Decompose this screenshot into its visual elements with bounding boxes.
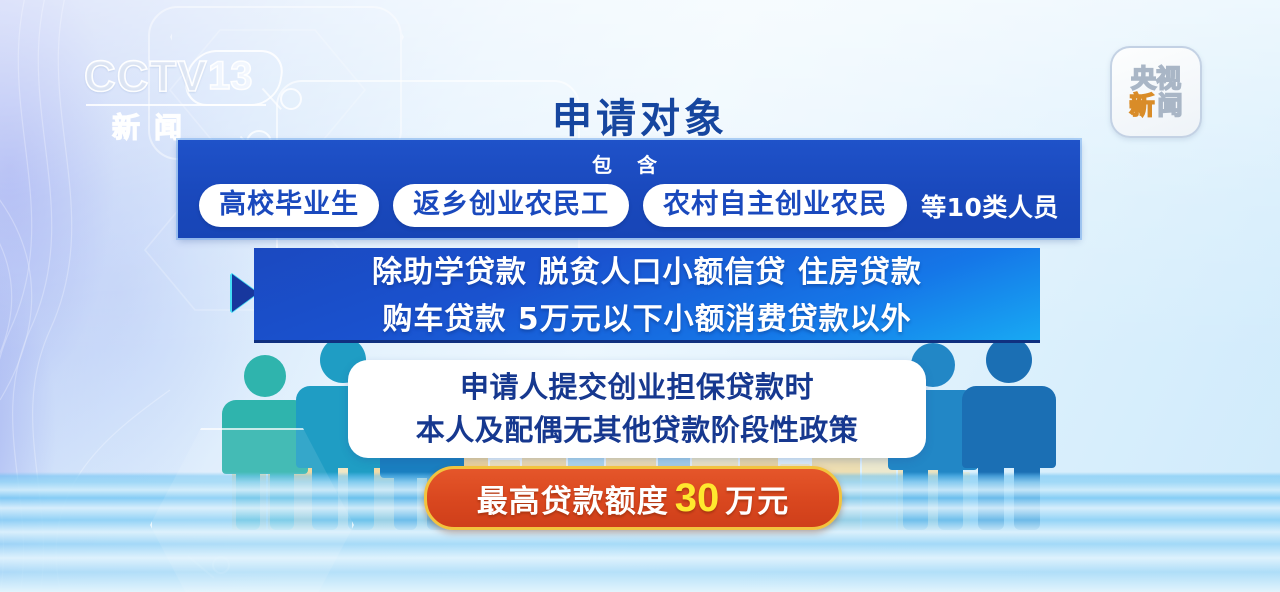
applicant-pill-3: 农村自主创业农民 [643, 184, 907, 227]
max-loan-amount: 30 [675, 476, 720, 521]
applicants-panel: 包 含 高校毕业生 返乡创业农民工 农村自主创业农民 等10类人员 [178, 140, 1080, 238]
exclusions-line-2: 购车贷款 5万元以下小额消费贷款以外 [254, 295, 1040, 342]
applicants-panel-tail: 等10类人员 [921, 188, 1059, 224]
conditions-line-2: 本人及配偶无其他贷款阶段性政策 [416, 409, 859, 452]
max-loan-label: 最高贷款额度 [477, 476, 669, 521]
exclusions-panel-wrapper: 除助学贷款 脱贫人口小额信贷 住房贷款 购车贷款 5万元以下小额消费贷款以外 [232, 248, 1040, 346]
applicants-panel-header: 包 含 [178, 149, 1080, 178]
exclusions-line-1: 除助学贷款 脱贫人口小额信贷 住房贷款 [254, 248, 1040, 295]
conditions-panel: 申请人提交创业担保贷款时 本人及配偶无其他贷款阶段性政策 [348, 360, 926, 458]
applicant-pill-2: 返乡创业农民工 [393, 184, 629, 227]
page-title: 申请对象 [0, 86, 1280, 144]
applicants-pill-row: 高校毕业生 返乡创业农民工 农村自主创业农民 等10类人员 [178, 184, 1080, 227]
max-loan-unit: 万元 [725, 476, 789, 521]
news-graphic-screen: CCTV 13 新闻 央视 新 闻 申请对象 包 含 高校毕业生 返乡创业农民工… [0, 0, 1280, 592]
conditions-line-1: 申请人提交创业担保贷款时 [460, 366, 814, 409]
applicant-pill-1: 高校毕业生 [199, 184, 379, 227]
exclusions-panel: 除助学贷款 脱贫人口小额信贷 住房贷款 购车贷款 5万元以下小额消费贷款以外 [254, 248, 1040, 340]
max-loan-badge: 最高贷款额度 30 万元 [424, 466, 842, 530]
